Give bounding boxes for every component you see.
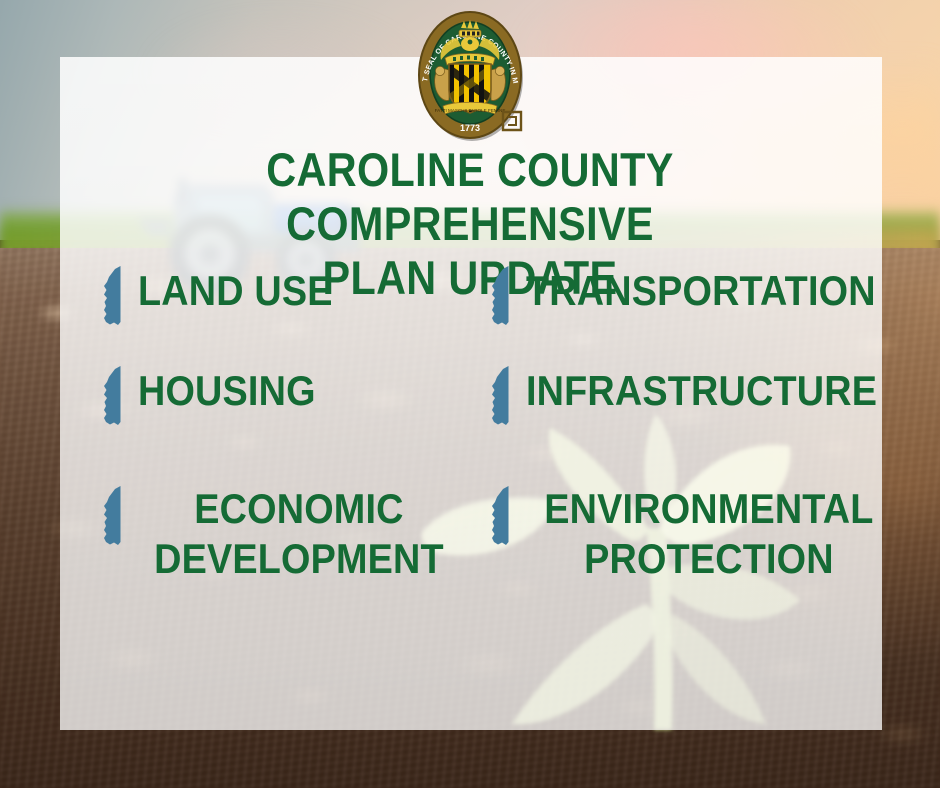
- topic-label: ENVIRONMENTAL PROTECTION: [544, 482, 873, 584]
- topic-item-environmental-protection[interactable]: ENVIRONMENTAL PROTECTION: [460, 482, 916, 584]
- county-outline-icon: [486, 366, 516, 430]
- topic-item-land-use[interactable]: LAND USE: [60, 262, 460, 330]
- topic-item-economic-development[interactable]: ECONOMIC DEVELOPMENT: [60, 482, 460, 584]
- topic-label: TRANSPORTATION: [526, 262, 876, 316]
- topic-item-infrastructure[interactable]: INFRASTRUCTURE: [460, 362, 916, 430]
- topic-label: INFRASTRUCTURE: [526, 362, 877, 416]
- topic-label: LAND USE: [138, 262, 333, 316]
- topic-list: LAND USE TRANSPORTATION HOUSING: [60, 262, 882, 612]
- topic-item-transportation[interactable]: TRANSPORTATION: [460, 262, 916, 330]
- county-outline-icon: [98, 486, 128, 550]
- poster-root: THE GREAT SEAL OF CAROLINE COUNTY IN MAR…: [0, 0, 940, 788]
- svg-text:1773: 1773: [460, 123, 480, 133]
- topic-label: HOUSING: [138, 362, 316, 416]
- county-outline-icon: [486, 486, 516, 550]
- caroline-county-seal: THE GREAT SEAL OF CAROLINE COUNTY IN MAR…: [411, 8, 529, 142]
- svg-text:FATTI MASCHII PAROLE FEMINE: FATTI MASCHII PAROLE FEMINE: [435, 108, 506, 113]
- poster-content: THE GREAT SEAL OF CAROLINE COUNTY IN MAR…: [0, 0, 940, 788]
- county-outline-icon: [98, 266, 128, 330]
- topic-label: ECONOMIC DEVELOPMENT: [154, 482, 444, 584]
- county-outline-icon: [486, 266, 516, 330]
- topic-item-housing[interactable]: HOUSING: [60, 362, 460, 430]
- county-outline-icon: [98, 366, 128, 430]
